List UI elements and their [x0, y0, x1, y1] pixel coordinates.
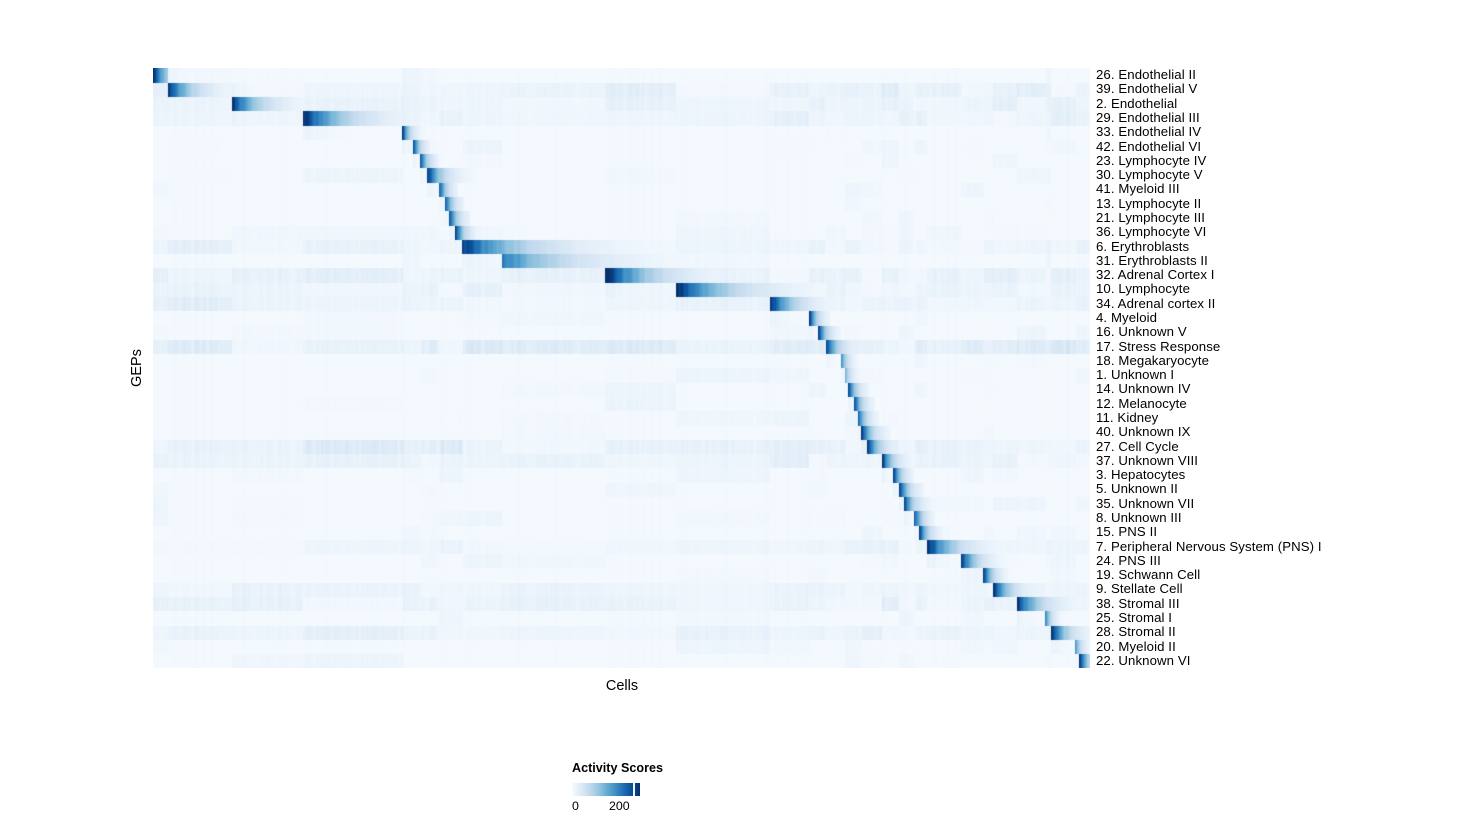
row-label: 28. Stromal II	[1096, 625, 1176, 639]
row-label: 13. Lymphocyte II	[1096, 197, 1201, 211]
row-label: 16. Unknown V	[1096, 325, 1187, 339]
row-label: 20. Myeloid II	[1096, 639, 1176, 653]
row-label: 29. Endothelial III	[1096, 111, 1200, 125]
row-label: 39. Endothelial V	[1096, 82, 1197, 96]
row-label: 22. Unknown VI	[1096, 654, 1191, 668]
row-label: 1. Unknown I	[1096, 368, 1174, 382]
row-label: 38. Stromal III	[1096, 597, 1180, 611]
row-label: 31. Erythroblasts II	[1096, 254, 1208, 268]
row-label: 36. Lymphocyte VI	[1096, 225, 1206, 239]
colorbar-tick-min: 0	[572, 799, 579, 813]
row-label: 9. Stellate Cell	[1096, 582, 1183, 596]
row-label: 25. Stromal I	[1096, 611, 1172, 625]
row-label: 33. Endothelial IV	[1096, 125, 1201, 139]
row-label: 5. Unknown II	[1096, 482, 1178, 496]
row-label: 2. Endothelial	[1096, 97, 1177, 111]
row-label: 14. Unknown IV	[1096, 382, 1191, 396]
row-label: 6. Erythroblasts	[1096, 239, 1189, 253]
row-label: 10. Lymphocyte	[1096, 282, 1190, 296]
row-label: 23. Lymphocyte IV	[1096, 154, 1206, 168]
row-label: 34. Adrenal cortex II	[1096, 297, 1215, 311]
row-label: 35. Unknown VII	[1096, 497, 1194, 511]
x-axis-label: Cells	[606, 678, 638, 694]
row-label: 18. Megakaryocyte	[1096, 354, 1209, 368]
row-label: 4. Myeloid	[1096, 311, 1157, 325]
heatmap-canvas	[153, 68, 1090, 668]
row-label: 11. Kidney	[1096, 411, 1158, 425]
row-label: 19. Schwann Cell	[1096, 568, 1200, 582]
row-label: 40. Unknown IX	[1096, 425, 1191, 439]
row-label: 15. PNS II	[1096, 525, 1157, 539]
row-label: 27. Cell Cycle	[1096, 439, 1179, 453]
heatmap-plot-area	[153, 68, 1090, 668]
row-label: 17. Stress Response	[1096, 339, 1220, 353]
heatmap-figure: GEPs Cells 26. Endothelial II39. Endothe…	[0, 0, 1457, 815]
row-label: 26. Endothelial II	[1096, 68, 1196, 82]
colorbar-tick-mark	[633, 783, 635, 796]
y-axis-label: GEPs	[129, 349, 145, 387]
colorbar-gradient	[572, 783, 640, 796]
row-label: 37. Unknown VIII	[1096, 454, 1198, 468]
row-label: 41. Myeloid III	[1096, 182, 1180, 196]
row-label-list: 26. Endothelial II39. Endothelial V2. En…	[1096, 68, 1446, 668]
row-label: 32. Adrenal Cortex I	[1096, 268, 1215, 282]
row-label: 30. Lymphocyte V	[1096, 168, 1203, 182]
row-label: 12. Melanocyte	[1096, 397, 1187, 411]
colorbar-title: Activity Scores	[572, 761, 663, 775]
colorbar-tick-max: 200	[609, 799, 630, 813]
row-label: 8. Unknown III	[1096, 511, 1182, 525]
row-label: 24. PNS III	[1096, 554, 1161, 568]
row-label: 3. Hepatocytes	[1096, 468, 1185, 482]
row-label: 42. Endothelial VI	[1096, 139, 1201, 153]
row-label: 21. Lymphocyte III	[1096, 211, 1205, 225]
row-label: 7. Peripheral Nervous System (PNS) I	[1096, 539, 1322, 553]
